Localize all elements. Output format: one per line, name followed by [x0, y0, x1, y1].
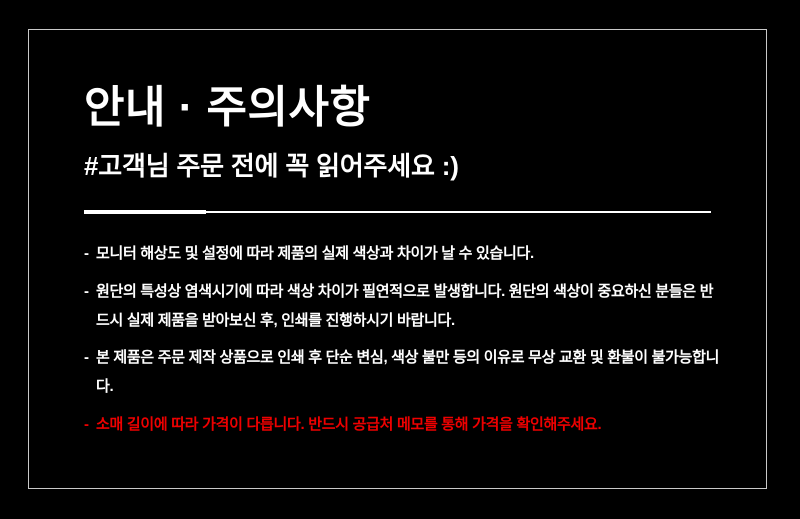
- page-title: 안내 · 주의사항: [84, 84, 724, 132]
- notice-item: -원단의 특성상 염색시기에 따라 색상 차이가 필연적으로 발생합니다. 원단…: [84, 277, 724, 336]
- notice-list: -모니터 해상도 및 설정에 따라 제품의 실제 색상과 차이가 날 수 있습니…: [84, 239, 724, 439]
- notice-card: 안내 · 주의사항 #고객님 주문 전에 꼭 읽어주세요 :) -모니터 해상도…: [0, 0, 800, 519]
- divider-thick-segment: [84, 210, 206, 214]
- divider-thin-segment: [206, 211, 711, 213]
- notice-item-text: 본 제품은 주문 제작 상품으로 인쇄 후 단순 변심, 색상 불만 등의 이유…: [96, 349, 719, 395]
- notice-item: -소매 길이에 따라 가격이 다릅니다. 반드시 공급처 메모를 통해 가격을 …: [84, 410, 724, 439]
- notice-content: 안내 · 주의사항 #고객님 주문 전에 꼭 읽어주세요 :) -모니터 해상도…: [84, 84, 724, 439]
- notice-item: -모니터 해상도 및 설정에 따라 제품의 실제 색상과 차이가 날 수 있습니…: [84, 239, 724, 268]
- page-subtitle: #고객님 주문 전에 꼭 읽어주세요 :): [84, 152, 724, 182]
- notice-item-text: 원단의 특성상 염색시기에 따라 색상 차이가 필연적으로 발생합니다. 원단의…: [96, 283, 713, 329]
- bullet-dash-icon: -: [84, 277, 89, 306]
- notice-item-text: 모니터 해상도 및 설정에 따라 제품의 실제 색상과 차이가 날 수 있습니다…: [96, 245, 534, 262]
- bullet-dash-icon: -: [84, 343, 89, 372]
- notice-item: -본 제품은 주문 제작 상품으로 인쇄 후 단순 변심, 색상 불만 등의 이…: [84, 343, 724, 402]
- bullet-dash-icon: -: [84, 410, 89, 439]
- header-divider: [84, 210, 711, 216]
- notice-item-text: 소매 길이에 따라 가격이 다릅니다. 반드시 공급처 메모를 통해 가격을 확…: [96, 416, 601, 433]
- bullet-dash-icon: -: [84, 239, 89, 268]
